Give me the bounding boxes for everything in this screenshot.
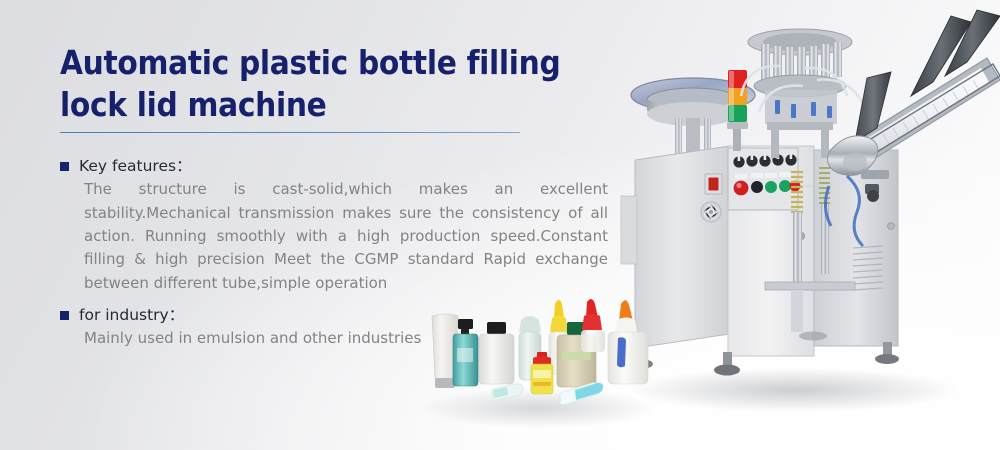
push-button-green <box>779 180 791 192</box>
cabinet-door-latch <box>888 223 895 230</box>
feature-block-key-features: Key features： The structure is cast-soli… <box>60 156 608 295</box>
bottle-orange-nozzle <box>608 300 648 384</box>
bottle-red-nozzle <box>581 299 605 352</box>
bottle-small-yellow-red <box>531 352 553 394</box>
feature-heading-label: Key features： <box>79 156 192 176</box>
bottle-white-round <box>479 322 514 384</box>
industry-heading-label: for industry： <box>79 305 184 325</box>
push-button-green <box>765 181 777 193</box>
product-bottle-group <box>415 290 665 440</box>
text-column: Automatic plastic bottle filling lock li… <box>60 42 620 126</box>
control-panel <box>728 148 800 210</box>
square-bullet-icon <box>60 311 69 320</box>
feature-body-text: The structure is cast-solid,which makes … <box>84 178 608 295</box>
machine-photo <box>615 0 1000 420</box>
emergency-stop-button <box>734 181 749 196</box>
floor-shadow <box>630 368 960 412</box>
square-bullet-icon <box>60 162 69 171</box>
title-divider <box>60 132 520 133</box>
push-button-black <box>751 181 763 193</box>
power-switch <box>705 174 722 194</box>
feature-heading-row: Key features： <box>60 156 608 176</box>
page-title: Automatic plastic bottle filling lock li… <box>60 42 620 126</box>
product-banner: Automatic plastic bottle filling lock li… <box>0 0 1000 450</box>
fan-vent <box>701 202 721 222</box>
